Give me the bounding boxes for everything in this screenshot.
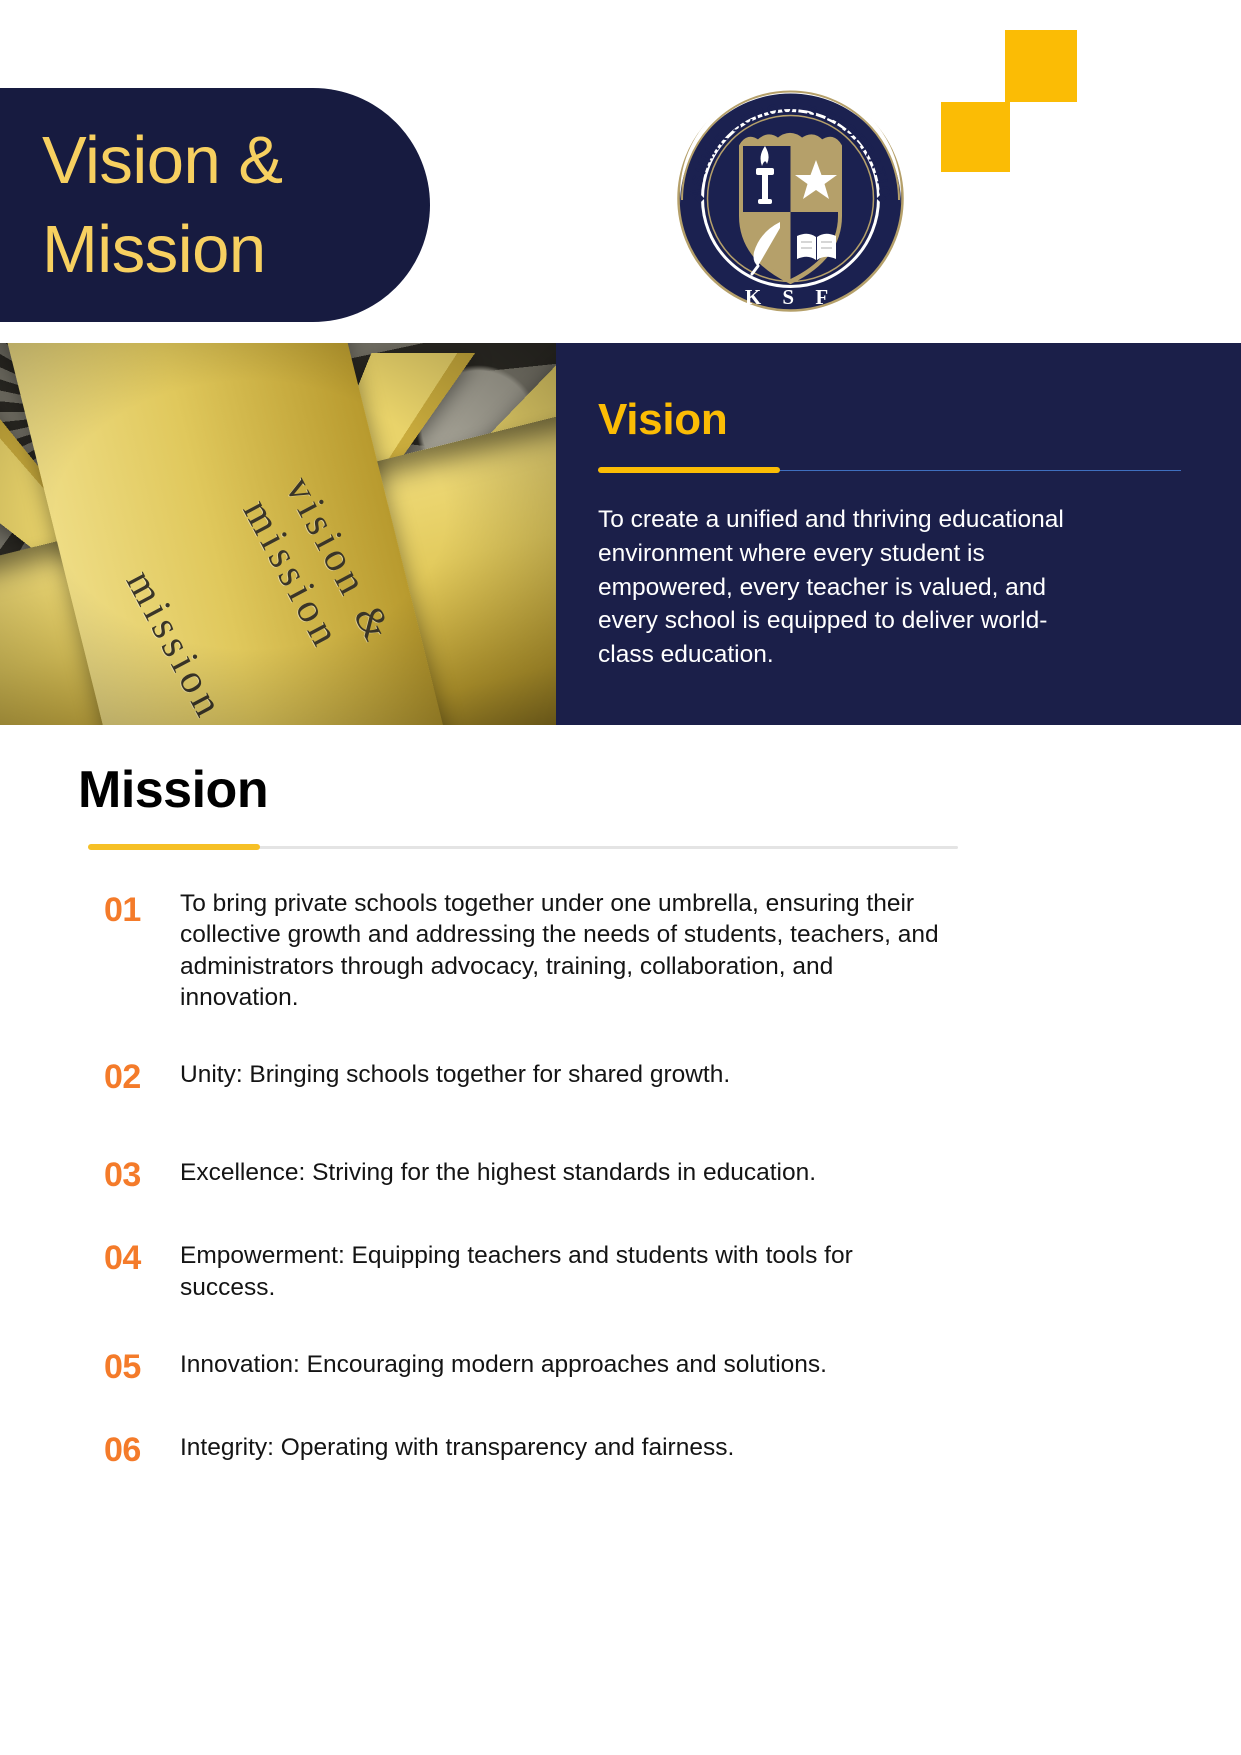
mission-item-text: Unity: Bringing schools together for sha… [180, 1059, 730, 1090]
page-title-banner: Vision & Mission [0, 88, 430, 322]
mission-divider [88, 844, 958, 850]
gears-vision-mission-photo: vision & mission mission [0, 343, 556, 725]
vision-divider-accent [598, 467, 780, 473]
photo-vignette [0, 343, 556, 725]
vision-band: vision & mission mission Vision To creat… [0, 343, 1241, 725]
mission-list: 01 To bring private schools together und… [0, 888, 1241, 1470]
vision-mission-page: Vision & Mission KASHMIR SCHOOLS FEDERAT… [0, 0, 1241, 1755]
ksf-crest-logo: KASHMIR SCHOOLS FEDERATION [668, 76, 913, 321]
mission-heading: Mission [78, 760, 1241, 820]
vision-heading: Vision [598, 395, 1181, 445]
mission-item-number: 03 [104, 1157, 180, 1194]
vision-panel: Vision To create a unified and thriving … [556, 343, 1241, 725]
decorative-square-top [1005, 30, 1077, 102]
mission-divider-accent [88, 844, 260, 850]
mission-item-number: 04 [104, 1240, 180, 1277]
list-item: 01 To bring private schools together und… [104, 888, 1241, 1013]
mission-item-number: 05 [104, 1349, 180, 1386]
vision-divider [598, 467, 1181, 473]
mission-item-number: 02 [104, 1059, 180, 1096]
list-item: 04 Empowerment: Equipping teachers and s… [104, 1240, 1241, 1303]
list-item: 06 Integrity: Operating with transparenc… [104, 1432, 1241, 1469]
vision-body-text: To create a unified and thriving educati… [598, 503, 1078, 672]
decorative-square-bottom [941, 102, 1010, 172]
mission-item-text: Integrity: Operating with transparency a… [180, 1432, 734, 1463]
mission-item-number: 06 [104, 1432, 180, 1469]
mission-item-number: 01 [104, 888, 180, 929]
list-item: 03 Excellence: Striving for the highest … [104, 1157, 1241, 1194]
mission-item-text: Excellence: Striving for the highest sta… [180, 1157, 816, 1188]
mission-section: Mission 01 To bring private schools toge… [0, 760, 1241, 1516]
mission-item-text: To bring private schools together under … [180, 888, 950, 1013]
mission-item-text: Empowerment: Equipping teachers and stud… [180, 1240, 950, 1303]
mission-item-text: Innovation: Encouraging modern approache… [180, 1349, 827, 1380]
list-item: 02 Unity: Bringing schools together for … [104, 1059, 1241, 1096]
logo-monogram: K S F [745, 285, 836, 309]
list-item: 05 Innovation: Encouraging modern approa… [104, 1349, 1241, 1386]
page-title: Vision & Mission [0, 116, 283, 294]
